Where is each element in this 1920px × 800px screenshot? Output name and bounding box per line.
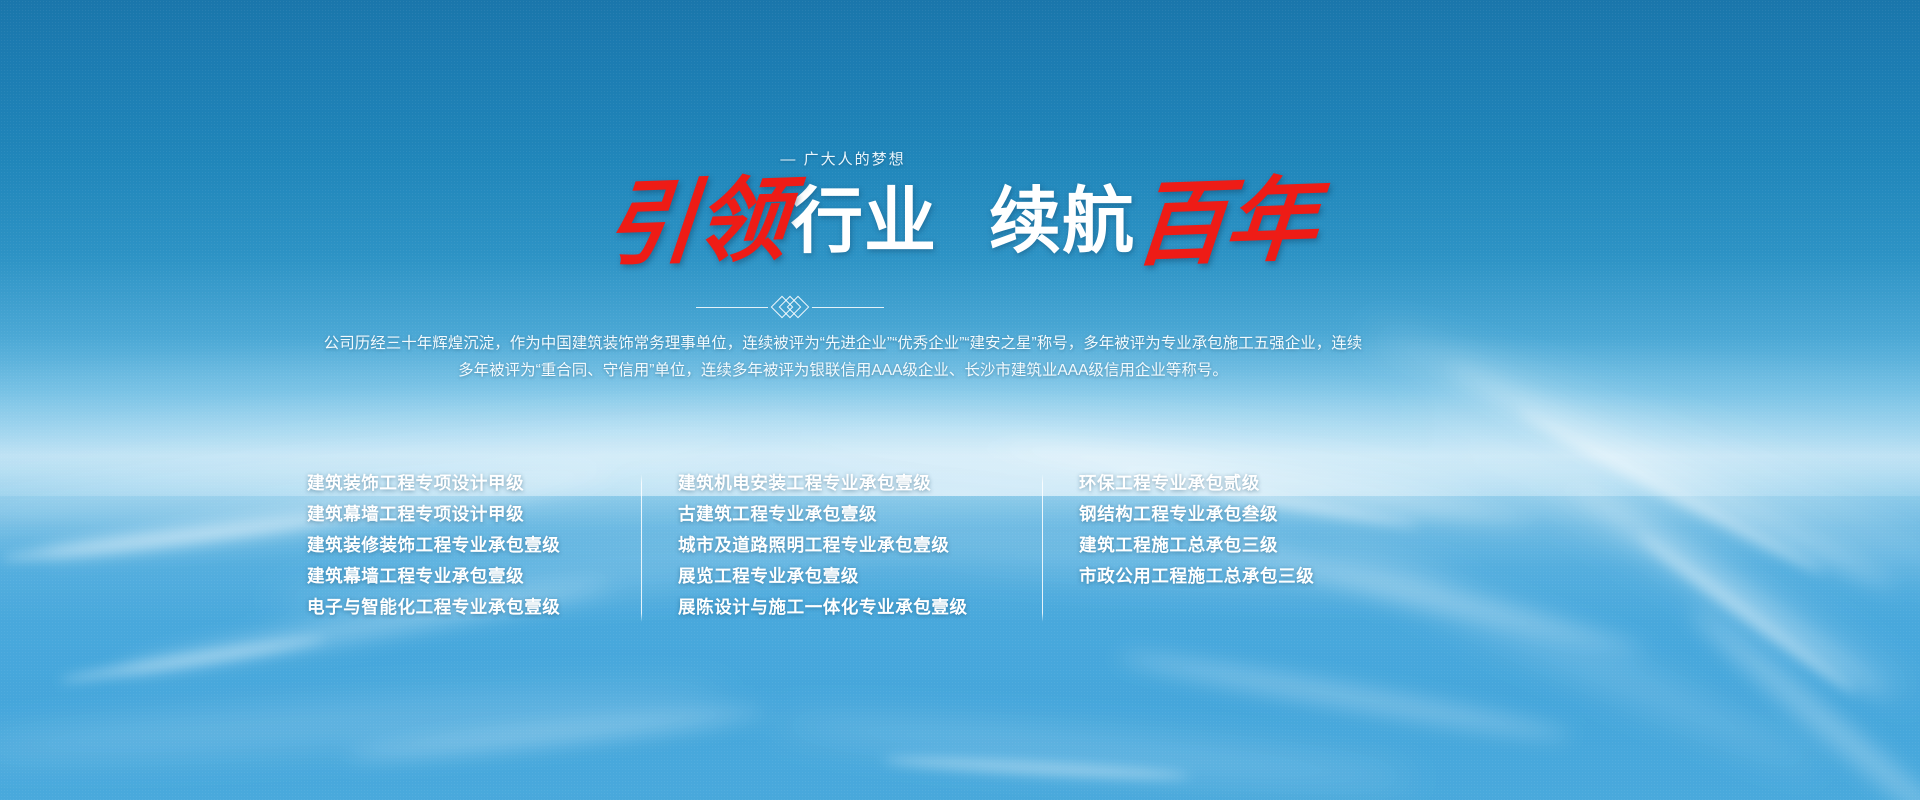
headline-word-industry: 行业 <box>785 186 937 258</box>
qualification-item: 建筑幕墙工程专项设计甲级 <box>307 503 607 525</box>
qualification-column-2: 建筑机电安装工程专业承包壹级 古建筑工程专业承包壹级 城市及道路照明工程专业承包… <box>642 472 1042 618</box>
hero-headline: 引领行业续航百年 <box>0 176 1920 268</box>
divider-rule-right <box>812 307 884 308</box>
qualification-item: 建筑幕墙工程专业承包壹级 <box>307 565 607 587</box>
diamond-divider-icon <box>0 299 1750 315</box>
qualification-item: 建筑工程施工总承包三级 <box>1079 534 1379 556</box>
qualification-item: 建筑装饰工程专项设计甲级 <box>307 472 607 494</box>
headline-word-lead: 引领 <box>601 173 790 271</box>
hero-banner: — 广大人的梦想 引领行业续航百年 公司历经三十年辉煌沉淀，作为中国建筑装饰常务… <box>0 0 1920 800</box>
qualification-item: 电子与智能化工程专业承包壹级 <box>307 596 607 618</box>
divider-diamonds <box>778 299 802 315</box>
qualification-item: 市政公用工程施工总承包三级 <box>1079 565 1379 587</box>
headline-word-century: 百年 <box>1131 173 1320 271</box>
qualification-item: 建筑装修装饰工程专业承包壹级 <box>307 534 607 556</box>
qualification-column-1: 建筑装饰工程专项设计甲级 建筑幕墙工程专项设计甲级 建筑装修装饰工程专业承包壹级… <box>307 472 641 618</box>
hero-tagline: — 广大人的梦想 <box>0 148 1803 169</box>
qualification-item: 城市及道路照明工程专业承包壹级 <box>678 534 1008 556</box>
headline-word-endure: 续航 <box>983 186 1135 258</box>
qualification-item: 展陈设计与施工一体化专业承包壹级 <box>678 596 1008 618</box>
company-intro: 公司历经三十年辉煌沉淀，作为中国建筑装饰常务理事单位，连续被评为“先进企业”“优… <box>298 330 1388 384</box>
qualification-item: 钢结构工程专业承包叁级 <box>1079 503 1379 525</box>
divider-rule-left <box>696 307 768 308</box>
qualification-item: 建筑机电安装工程专业承包壹级 <box>678 472 1008 494</box>
qualifications-list: 建筑装饰工程专项设计甲级 建筑幕墙工程专项设计甲级 建筑装修装饰工程专业承包壹级… <box>307 472 1379 622</box>
intro-line-2: 多年被评为“重合同、守信用”单位，连续多年被评为银联信用AAA级企业、长沙市建筑… <box>298 357 1388 384</box>
qualification-column-3: 环保工程专业承包贰级 钢结构工程专业承包叁级 建筑工程施工总承包三级 市政公用工… <box>1043 472 1379 587</box>
qualification-item: 环保工程专业承包贰级 <box>1079 472 1379 494</box>
intro-line-1: 公司历经三十年辉煌沉淀，作为中国建筑装饰常务理事单位，连续被评为“先进企业”“优… <box>298 330 1388 357</box>
qualification-item: 古建筑工程专业承包壹级 <box>678 503 1008 525</box>
qualification-item: 展览工程专业承包壹级 <box>678 565 1008 587</box>
